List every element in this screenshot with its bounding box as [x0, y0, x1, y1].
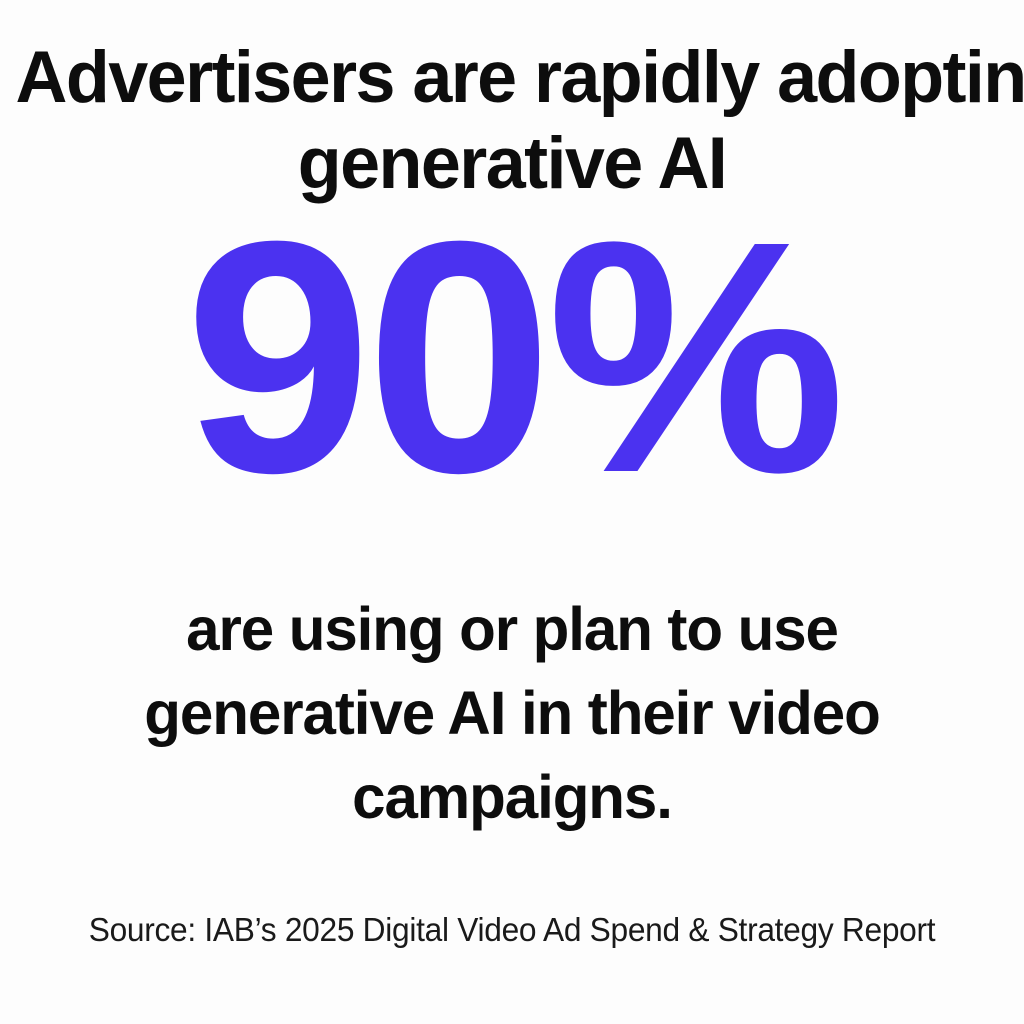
source-attribution: Source: IAB’s 2025 Digital Video Ad Spen…: [20, 910, 1003, 950]
body-copy: are using or plan to use generative AI i…: [8, 587, 1017, 839]
headline-line-1: Advertisers are rapidly adopting: [16, 35, 1009, 121]
stat-container: 90%: [0, 223, 1024, 491]
stat-value: 90%: [184, 223, 839, 491]
body-line-2: generative AI in their video: [37, 671, 987, 755]
infographic-card: Advertisers are rapidly adopting generat…: [0, 0, 1024, 1024]
body-line-3: campaigns.: [37, 755, 987, 839]
body-line-1: are using or plan to use: [37, 587, 987, 671]
